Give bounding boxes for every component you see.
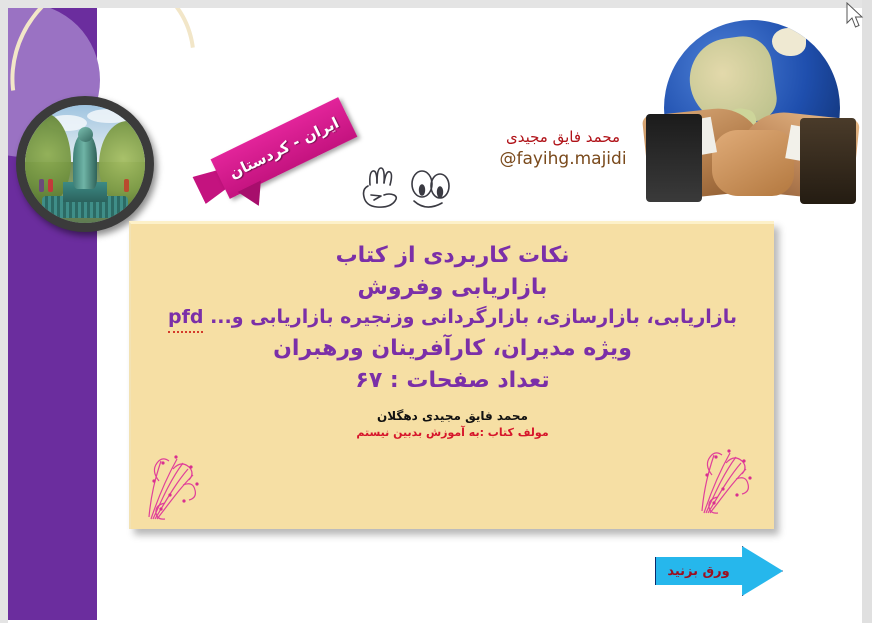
photo-person	[39, 179, 44, 192]
book-info-card: نکات کاربردی از کتاب بازاریابی وفروش باز…	[129, 221, 774, 529]
doodle-svg	[360, 165, 460, 217]
ribbon-label: ایران - کردستان	[211, 97, 358, 199]
card-line-1: نکات کاربردی از کتاب	[131, 240, 774, 272]
suit-sleeve-left	[646, 114, 702, 202]
firework-svg	[696, 445, 758, 517]
firework-decoration-right	[696, 445, 758, 517]
photo-person	[124, 179, 129, 192]
photo-person	[48, 179, 53, 192]
globe-handshake-image	[646, 18, 856, 213]
statue-photo-oval	[16, 96, 154, 232]
card-line-3: بازاریابی، بازارسازی، بازارگردانی وزنجیر…	[131, 304, 774, 334]
card-line-4: ویژه مدیران، کارآفرینان ورهبران	[131, 333, 774, 365]
firework-svg	[143, 451, 205, 523]
card-line-3-text: بازاریابی، بازارسازی، بازارگردانی وزنجیر…	[210, 306, 737, 328]
byline: محمد فایق مجیدی @fayihg.majidi	[478, 128, 648, 170]
firework-decoration-left	[143, 451, 205, 523]
cursor-icon	[845, 2, 865, 30]
arrow-label: ورق بزنید	[655, 546, 742, 596]
window-top-gutter	[0, 0, 872, 8]
slide-canvas[interactable]: ایران - کردستان محمد فایق مجیدی @fayihg.…	[8, 8, 862, 623]
handshake-grip	[712, 130, 794, 196]
mouse-pointer	[845, 2, 865, 30]
hand-and-eyes-doodle	[360, 165, 460, 217]
window-left-gutter	[0, 0, 8, 623]
next-page-arrow-button[interactable]: ورق بزنید	[655, 546, 783, 596]
card-text-block: نکات کاربردی از کتاب بازاریابی وفروش باز…	[131, 240, 774, 439]
byline-author-name: محمد فایق مجیدی	[478, 128, 648, 148]
suit-sleeve-right	[800, 118, 856, 204]
byline-social-handle: @fayihg.majidi	[478, 148, 648, 170]
misspelled-word: pfd	[168, 304, 203, 334]
statue-photo-image	[25, 105, 145, 223]
location-ribbon-banner: ایران - کردستان	[211, 97, 358, 199]
card-page-count-line: تعداد صفحات : ۶۷	[131, 365, 774, 397]
card-tagline: مولف کتاب :به آموزش بدبین نیستم	[131, 426, 774, 439]
card-author: محمد فایق مجیدی دهگلان	[131, 409, 774, 423]
screenshot-root: ایران - کردستان محمد فایق مجیدی @fayihg.…	[0, 0, 872, 623]
window-right-gutter	[862, 0, 872, 623]
globe-landmass	[772, 28, 806, 56]
card-line-2: بازاریابی وفروش	[131, 272, 774, 304]
